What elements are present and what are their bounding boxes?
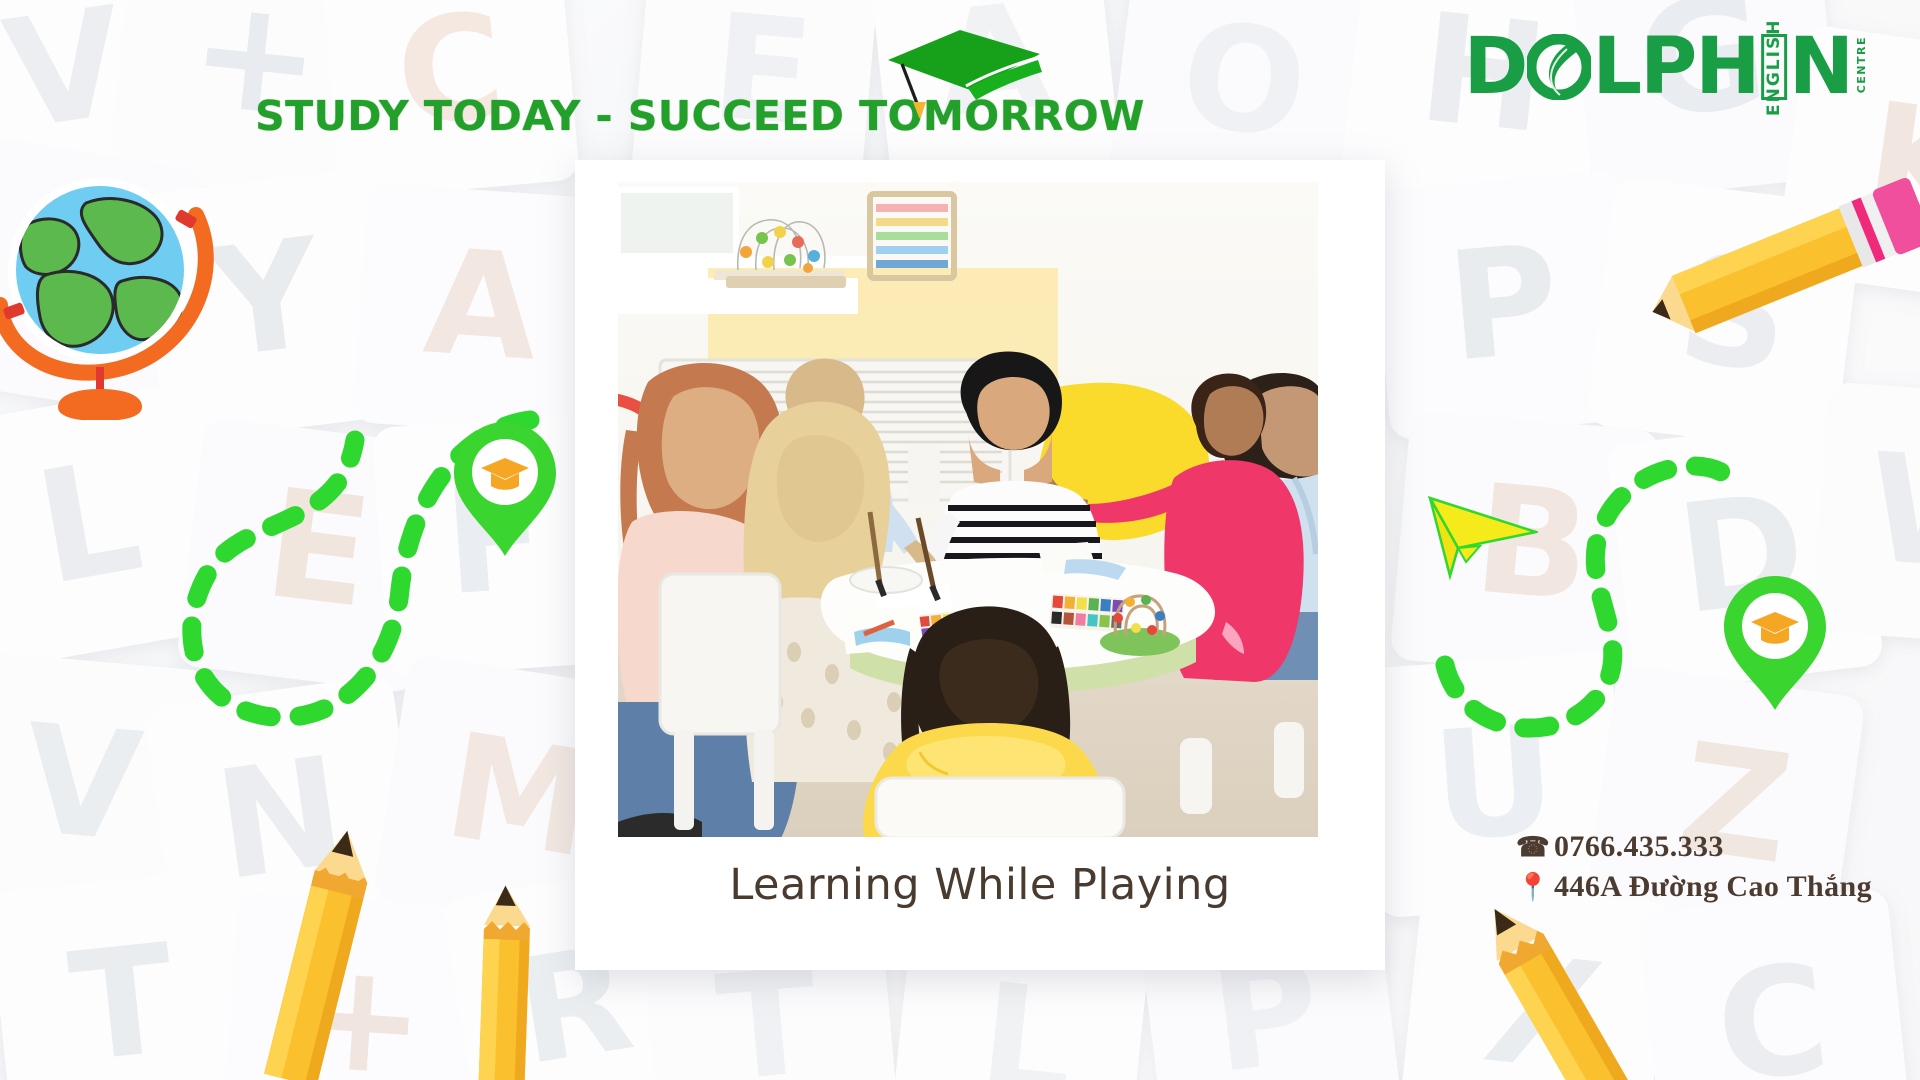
brand-logo[interactable]: D LPH ENGLISH N CENTRE bbox=[1464, 30, 1868, 104]
svg-text:O: O bbox=[1173, 0, 1316, 172]
pencil-icon-right bbox=[1630, 175, 1920, 365]
logo-text-n: N bbox=[1789, 30, 1852, 104]
photo-caption: Learning While Playing bbox=[575, 860, 1385, 910]
svg-text:C: C bbox=[1709, 932, 1837, 1080]
pencil-icon-bottom-left-2 bbox=[440, 880, 590, 1080]
logo-wordmark: D LPH ENGLISH N bbox=[1464, 30, 1852, 104]
contact-phone-line[interactable]: ☎ 0766.435.333 bbox=[1516, 830, 1872, 864]
telephone-icon: ☎ bbox=[1516, 832, 1550, 863]
map-pin-graduation-icon-right[interactable] bbox=[1720, 572, 1830, 714]
pencil-icon-bottom-left bbox=[250, 830, 440, 1080]
phone-number: 0766.435.333 bbox=[1554, 830, 1724, 864]
svg-text:A: A bbox=[420, 217, 544, 393]
logo-text-d: D bbox=[1464, 30, 1527, 104]
svg-text:E: E bbox=[257, 457, 380, 642]
classroom-photo bbox=[618, 182, 1318, 837]
svg-text:V: V bbox=[17, 692, 148, 875]
pencil-icon-bottom-right bbox=[1450, 880, 1680, 1080]
contact-info: ☎ 0766.435.333 📍 446A Đường Cao Thắng bbox=[1516, 830, 1872, 910]
logo-text-lph: LPH bbox=[1592, 30, 1758, 104]
location-pin-icon: 📍 bbox=[1516, 871, 1550, 903]
map-pin-graduation-icon-left[interactable] bbox=[450, 418, 560, 560]
logo-centre-label: CENTRE bbox=[1855, 36, 1868, 93]
graduation-cap-icon bbox=[880, 28, 1050, 118]
headline-container: STUDY TODAY - SUCCEED TOMORROW bbox=[0, 92, 1400, 140]
polaroid-card: Learning While Playing bbox=[575, 160, 1385, 970]
svg-text:L: L bbox=[972, 952, 1082, 1080]
address-text: 446A Đường Cao Thắng bbox=[1554, 870, 1872, 904]
svg-text:T: T bbox=[63, 912, 183, 1080]
paper-plane-icon bbox=[1428, 490, 1538, 580]
contact-address-line[interactable]: 📍 446A Đường Cao Thắng bbox=[1516, 870, 1872, 904]
logo-dolphin-mark bbox=[1527, 34, 1591, 100]
logo-english-badge: ENGLISH bbox=[1761, 34, 1787, 100]
globe-icon bbox=[0, 155, 215, 420]
svg-text:P: P bbox=[1441, 213, 1566, 396]
